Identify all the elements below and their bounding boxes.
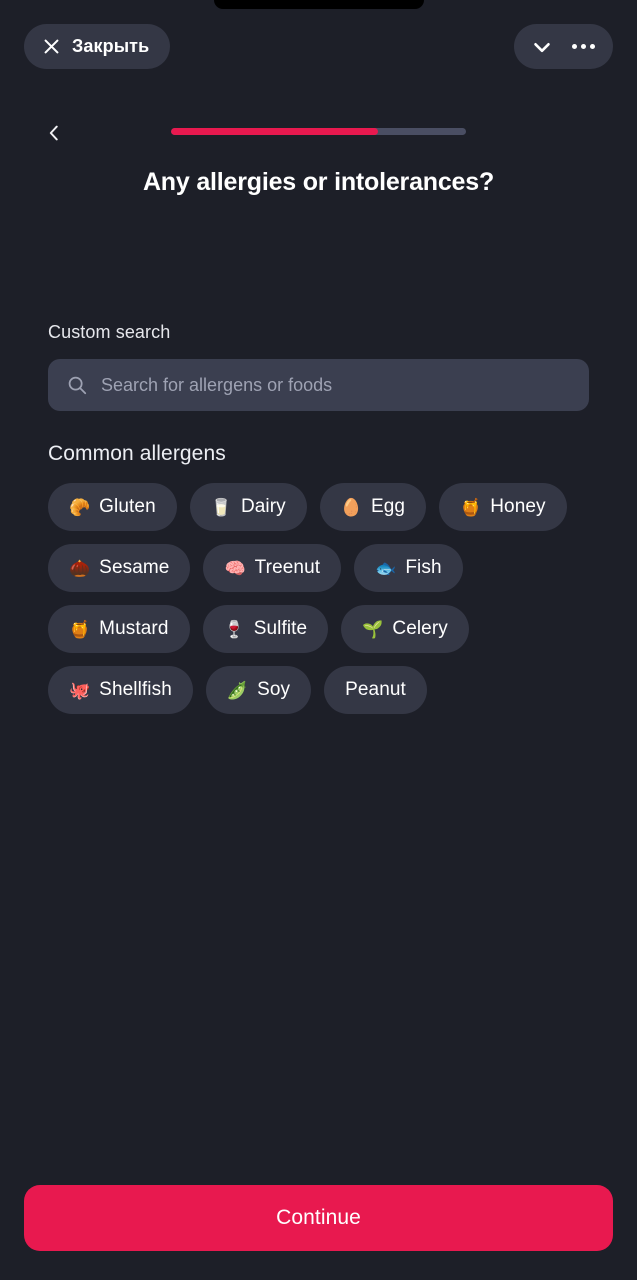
close-button[interactable]: Закрыть <box>24 24 170 69</box>
allergen-chip-icon: 🥐 <box>69 499 90 516</box>
app-root: Закрыть Any allergies or intole <box>0 0 637 1280</box>
progress-bar <box>171 128 466 135</box>
allergen-chip-label: Sesame <box>99 557 169 579</box>
allergen-chip-label: Sulfite <box>254 618 308 640</box>
allergen-chip[interactable]: Peanut <box>324 666 427 714</box>
allergen-chip-icon: 🐟 <box>375 560 396 577</box>
allergen-chip[interactable]: 🍷Sulfite <box>203 605 329 653</box>
allergen-chip[interactable]: 🌰Sesame <box>48 544 190 592</box>
allergen-chip-label: Celery <box>392 618 448 640</box>
footer-bar: Continue <box>0 1168 637 1280</box>
custom-search-label: Custom search <box>48 322 589 343</box>
allergen-chip[interactable]: 🥚Egg <box>320 483 426 531</box>
allergen-chip-label: Soy <box>257 679 290 701</box>
allergen-chip-icon: 🍯 <box>69 621 90 638</box>
status-bar <box>0 0 637 10</box>
allergen-chip-list: 🥐Gluten🥛Dairy🥚Egg🍯Honey🌰Sesame🧠Treenut🐟F… <box>48 483 593 714</box>
allergen-chip[interactable]: 🧠Treenut <box>203 544 341 592</box>
allergen-chip-icon: 🐙 <box>69 682 90 699</box>
allergen-chip[interactable]: 🐙Shellfish <box>48 666 193 714</box>
allergen-chip[interactable]: 🍯Mustard <box>48 605 190 653</box>
collapse-button[interactable] <box>528 33 556 61</box>
allergen-chip-label: Treenut <box>255 557 320 579</box>
allergen-chip[interactable]: 🐟Fish <box>354 544 462 592</box>
device-notch <box>214 0 424 9</box>
allergen-chip-label: Gluten <box>99 496 156 518</box>
chevron-down-icon <box>529 34 555 60</box>
allergen-chip-icon: 🧠 <box>224 560 245 577</box>
allergen-chip-icon: 🌰 <box>69 560 90 577</box>
allergen-chip-label: Fish <box>405 557 441 579</box>
allergen-chip-icon: 🍯 <box>460 499 481 516</box>
continue-button[interactable]: Continue <box>24 1185 613 1251</box>
search-input[interactable] <box>101 375 571 396</box>
close-x-icon <box>42 37 61 56</box>
allergen-chip[interactable]: 🥐Gluten <box>48 483 177 531</box>
main-content: Custom search Common allergens 🥐Gluten🥛D… <box>48 322 589 714</box>
allergen-chip[interactable]: 🫛Soy <box>206 666 311 714</box>
more-dots-icon <box>572 44 577 49</box>
progress-row <box>0 119 637 149</box>
chevron-left-icon <box>43 122 65 144</box>
page-title: Any allergies or intolerances? <box>0 168 637 197</box>
allergen-chip-label: Mustard <box>99 618 168 640</box>
allergen-chip-icon: 🥚 <box>341 499 362 516</box>
search-icon <box>66 374 88 396</box>
more-dots-icon <box>590 44 595 49</box>
allergen-chip-label: Peanut <box>345 679 406 701</box>
allergen-chip-icon: 🫛 <box>227 682 248 699</box>
allergen-chip-label: Honey <box>490 496 545 518</box>
allergen-chip[interactable]: 🥛Dairy <box>190 483 307 531</box>
allergen-chip[interactable]: 🌱Celery <box>341 605 469 653</box>
progress-bar-fill <box>171 128 378 135</box>
allergen-chip-icon: 🍷 <box>224 621 245 638</box>
window-controls-group <box>514 24 613 69</box>
allergen-chip-label: Egg <box>371 496 405 518</box>
more-options-button[interactable] <box>569 36 597 58</box>
allergen-chip-label: Dairy <box>241 496 286 518</box>
back-button[interactable] <box>40 119 68 147</box>
search-field[interactable] <box>48 359 589 411</box>
allergen-chip-icon: 🌱 <box>362 621 383 638</box>
close-button-label: Закрыть <box>72 36 149 57</box>
allergen-chip[interactable]: 🍯Honey <box>439 483 567 531</box>
common-allergens-heading: Common allergens <box>48 442 589 466</box>
top-bar: Закрыть <box>0 24 637 70</box>
more-dots-icon <box>581 44 586 49</box>
allergen-chip-label: Shellfish <box>99 679 172 701</box>
allergen-chip-icon: 🥛 <box>211 499 232 516</box>
